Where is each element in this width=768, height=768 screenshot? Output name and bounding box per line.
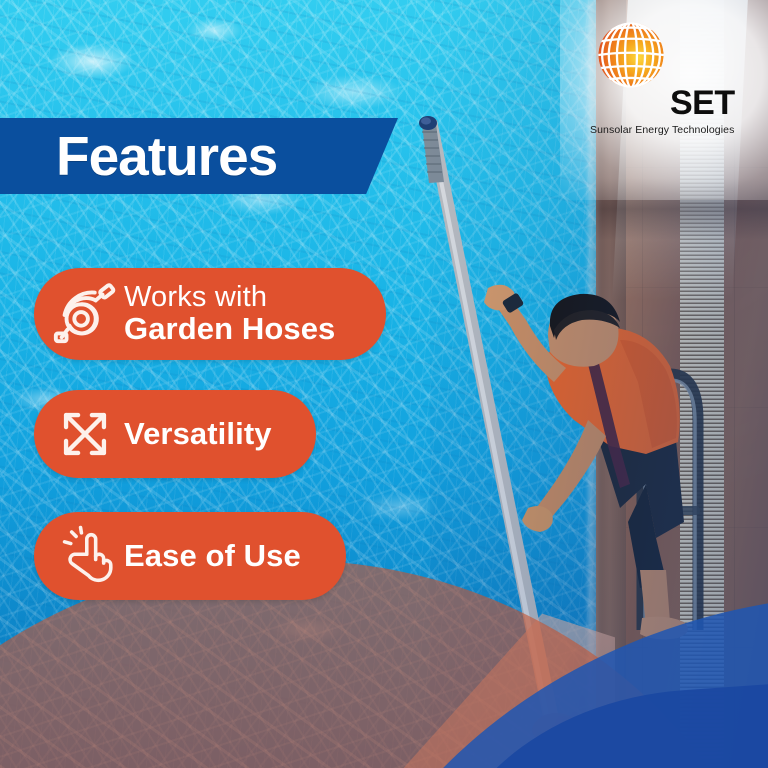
feature-label-ease-of-use: Ease of Use: [124, 540, 333, 572]
brand-tagline: Sunsolar Energy Technologies: [590, 124, 734, 136]
feature-label-line2: Ease of Use: [124, 540, 301, 572]
marketing-graphic: Features Works with Garden Hoses: [0, 0, 768, 768]
features-banner: Features: [0, 118, 398, 194]
feature-label-versatility: Versatility: [124, 418, 304, 450]
feature-label-garden-hoses: Works with Garden Hoses: [124, 283, 367, 344]
feature-pill-garden-hoses[interactable]: Works with Garden Hoses: [34, 268, 386, 360]
feature-pill-ease-of-use[interactable]: Ease of Use: [34, 512, 346, 600]
brand-name: SET: [670, 86, 735, 120]
sunsolar-sphere-icon: [594, 18, 668, 92]
feature-label-line1: Works with: [124, 283, 335, 313]
garden-hose-icon: [46, 275, 124, 353]
expand-arrows-icon: [46, 395, 124, 473]
tap-hand-icon: [46, 517, 124, 595]
feature-pill-versatility[interactable]: Versatility: [34, 390, 316, 478]
feature-label-line2: Versatility: [124, 418, 272, 450]
brand-logo: SET Sunsolar Energy Technologies: [588, 12, 758, 134]
page-title: Features: [56, 129, 277, 184]
feature-label-line2: Garden Hoses: [124, 313, 335, 345]
